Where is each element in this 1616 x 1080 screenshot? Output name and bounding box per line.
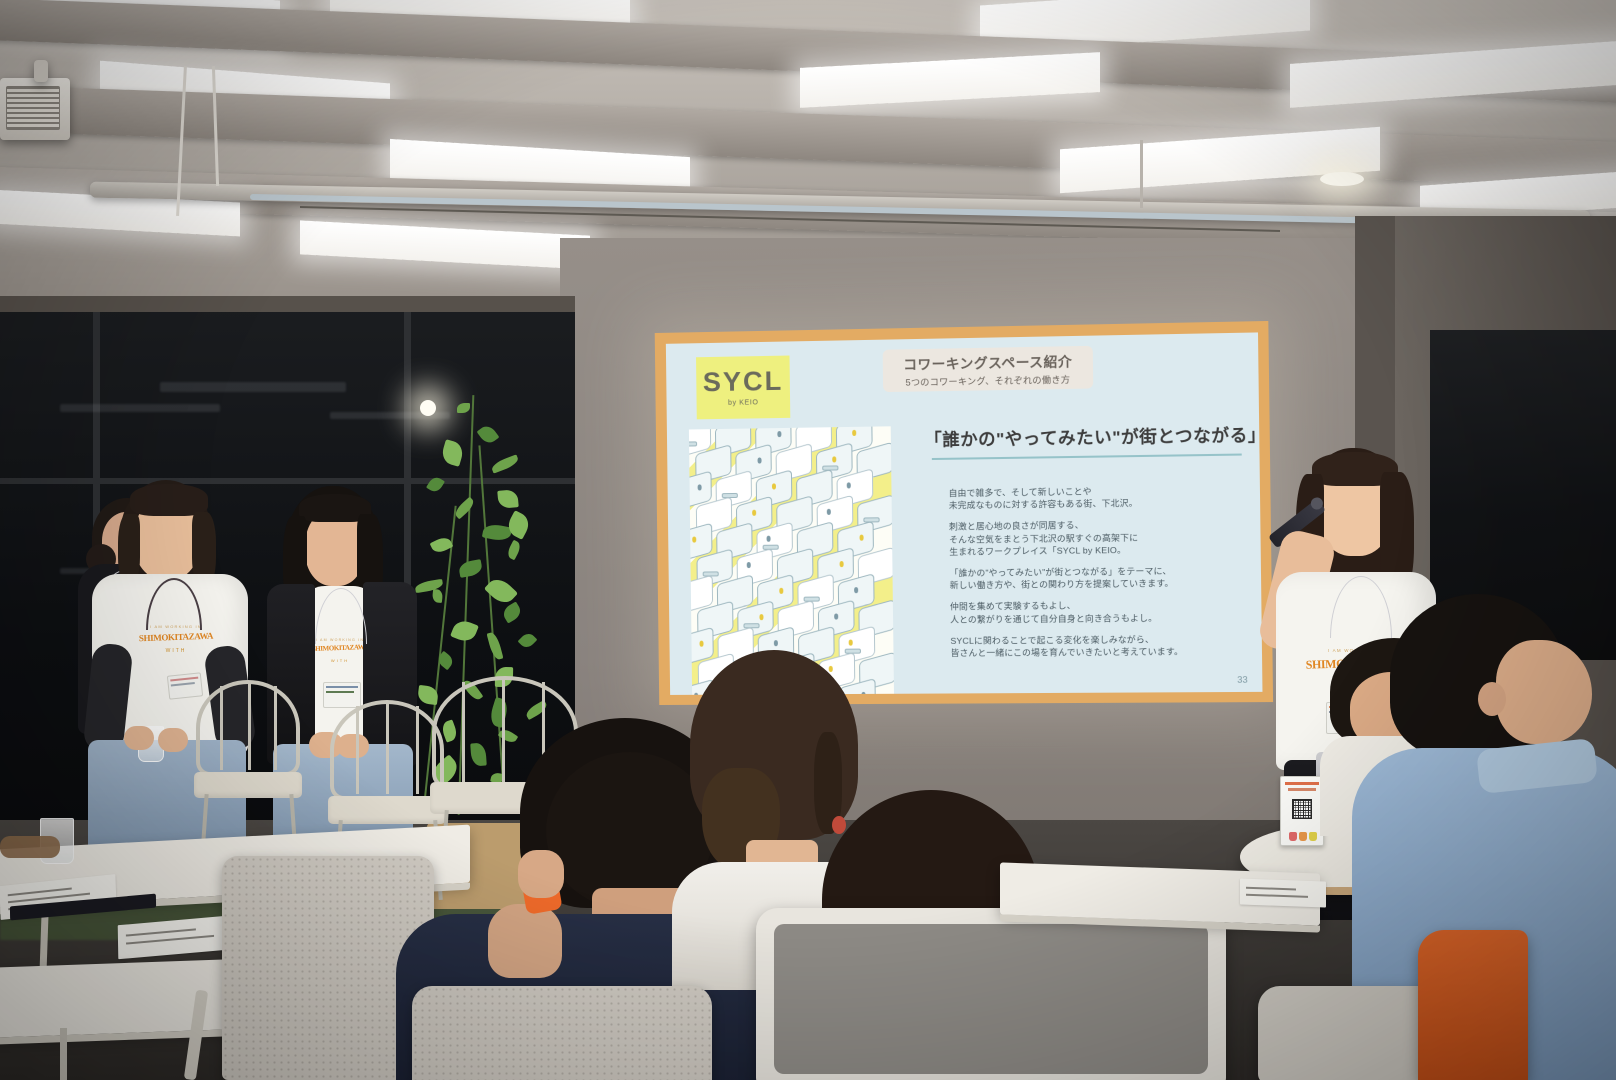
illustration-person-dot <box>758 457 762 463</box>
badge-line <box>171 682 195 686</box>
slide-page-number: 33 <box>1237 675 1248 685</box>
projector-mount <box>34 60 48 82</box>
presentation-room-scene: SYCL by KEIO コワーキングスペース紹介 5つのコワーキング、それぞれ… <box>0 0 1616 1080</box>
illustration-person-dot <box>847 482 851 488</box>
white-mesh-chair-front[interactable] <box>412 986 712 1080</box>
plant-leaf <box>432 589 443 603</box>
plant-leaf <box>518 631 538 651</box>
illustration-person-dot <box>854 587 858 593</box>
chair-back-slat <box>248 682 251 770</box>
slide-header-pill: コワーキングスペース紹介 5つのコワーキング、それぞれの働き方 <box>883 346 1094 392</box>
illustration-person-dot <box>832 456 836 462</box>
tshirt-icon <box>1309 832 1317 841</box>
illustration-furniture <box>689 441 697 446</box>
chair-cushion <box>194 772 302 798</box>
window-mullion <box>0 296 575 312</box>
slide-paragraph: SYCLに関わることで起こる変化を楽しみながら、皆さんと一緒にこの場を育んでいき… <box>950 632 1261 659</box>
chair-back-slat <box>274 686 277 770</box>
slide-header-title: コワーキングスペース紹介 <box>903 350 1072 373</box>
projector-vent <box>6 86 60 130</box>
ceiling-projector <box>0 78 70 140</box>
head-side <box>1496 640 1592 744</box>
tshirt-icon <box>1299 832 1307 841</box>
orange-chair-right[interactable] <box>1418 930 1528 1080</box>
plant-leaf <box>497 489 518 509</box>
badge-line <box>326 691 354 693</box>
sycl-logo-byline: by KEIO <box>728 399 759 407</box>
tshirt-sub-text: WITH <box>96 648 256 654</box>
plant-leaf <box>500 601 523 623</box>
illustration-person-dot <box>759 614 763 620</box>
chair-back-slat <box>356 706 359 794</box>
plant-leaf <box>453 497 477 520</box>
illustration-person-dot <box>767 536 771 542</box>
plant-leaf <box>490 454 520 473</box>
illustration-person-dot <box>827 509 831 515</box>
paper-line <box>126 935 214 944</box>
badge-line <box>326 686 358 688</box>
projected-slide-frame: SYCL by KEIO コワーキングスペース紹介 5つのコワーキング、それぞれ… <box>655 321 1273 705</box>
hand <box>158 728 188 752</box>
illustration-person-dot <box>779 588 783 594</box>
hand <box>124 726 154 750</box>
handout-paper[interactable] <box>1240 878 1326 907</box>
illustration-person-dot <box>747 562 751 568</box>
paper-line <box>1246 894 1308 898</box>
plant-leaf <box>436 651 456 670</box>
hand <box>518 850 564 898</box>
illustration-person-dot <box>849 640 853 646</box>
paper-line <box>126 928 196 936</box>
plant-leaf <box>457 403 470 413</box>
sycl-logo: SYCL by KEIO <box>696 356 790 420</box>
chair-back-slat <box>220 686 223 770</box>
illustration-person-dot <box>692 537 696 543</box>
slide-paragraph: 仲間を集めて実験するもよし、人との繋がりを通じて自分自身と向き合うもよし。 <box>950 598 1261 625</box>
illustration-person-dot <box>698 484 702 490</box>
ceiling-spot-lamp <box>1320 172 1364 186</box>
chair-back-slat <box>386 702 389 794</box>
plant-leaf <box>450 617 479 644</box>
slide-headline: 「誰かの"やってみたい"が街とつながる」 <box>924 420 1262 451</box>
slide-paragraph: 「誰かの"やってみたい"が街とつながる」をテーマに、新しい働き方や、街との関わり… <box>950 564 1261 592</box>
slide-header-subtitle: 5つのコワーキング、それぞれの働き方 <box>905 372 1070 388</box>
slide-paragraph: 刺激と居心地の良さが同居する、そんな空気をまとう下北沢の駅すぐの高架下に生まれる… <box>949 517 1260 558</box>
projected-slide: SYCL by KEIO コワーキングスペース紹介 5つのコワーキング、それぞれ… <box>666 332 1263 695</box>
window-reflection <box>60 404 220 412</box>
grey-office-chair[interactable] <box>756 908 1226 1080</box>
slide-paragraph: 自由で雑多で、そして新しいことや未完成なものに対する許容もある街、下北沢。 <box>949 483 1260 512</box>
slide-divider <box>932 454 1242 460</box>
illustration-person-dot <box>777 431 781 437</box>
paper-line <box>1246 887 1296 890</box>
sign-subline <box>1288 788 1316 791</box>
bag-strap <box>0 836 60 858</box>
slide-body-text: 自由で雑多で、そして新しいことや未完成なものに対する許容もある街、下北沢。刺激と… <box>949 483 1262 668</box>
table-leg <box>60 1028 67 1080</box>
illustration-person-dot <box>840 561 844 567</box>
qr-code-sign[interactable] <box>1280 776 1324 846</box>
sycl-logo-text: SYCL <box>703 368 784 397</box>
illustration-person-dot <box>752 510 756 516</box>
ceiling-light-panel <box>300 220 590 269</box>
qr-code-icon <box>1292 799 1312 819</box>
badge-line <box>170 677 198 682</box>
illustration-person-dot <box>699 641 703 647</box>
support-rod <box>1140 140 1143 208</box>
illustration-person-dot <box>834 613 838 619</box>
illustration-person-dot <box>860 535 864 541</box>
window-reflection <box>160 382 346 392</box>
chair-back-pad <box>774 924 1208 1074</box>
illustration-person-dot <box>774 640 778 646</box>
tshirt-icon <box>1289 832 1297 841</box>
sign-headline <box>1285 782 1319 785</box>
plant-leaf <box>505 540 522 561</box>
arm-raised <box>488 904 562 978</box>
plant-leaf <box>458 559 483 578</box>
plant-leaf <box>487 631 504 661</box>
plant-leaf <box>430 535 454 555</box>
ear <box>1478 682 1506 716</box>
plant-leaf <box>426 475 445 495</box>
illustration-person-dot <box>852 430 856 436</box>
illustration-person-dot <box>772 483 776 489</box>
plant-leaf <box>477 423 500 446</box>
plant-leaf <box>440 439 466 467</box>
